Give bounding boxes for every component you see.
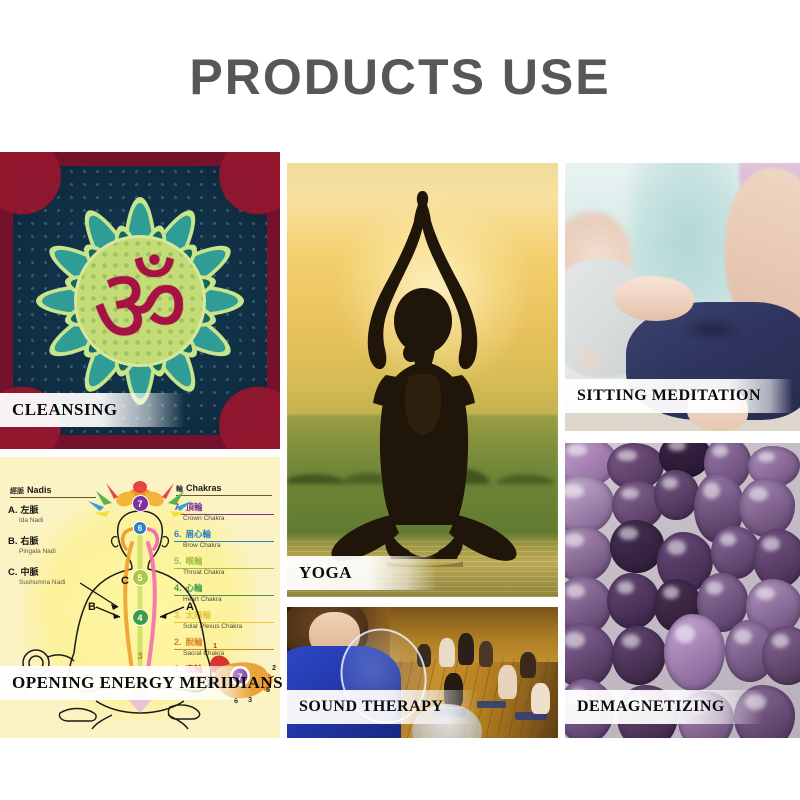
marker-letter-c: C [121,575,129,587]
participant [439,638,455,667]
amethyst-stone [610,520,664,573]
chakra-node-4: 4 [132,609,149,626]
tile-opening-energy-meridians[interactable]: 經脈Nadis A.左脈 Ida Nadi B.右脈 Pingala Nadi … [0,457,280,738]
participant [458,633,474,664]
marker-letter-a: A [186,601,194,613]
chakra-node-5: 5 [132,569,149,586]
amethyst-stone [654,470,699,520]
tile-yoga[interactable]: YOGA [287,163,558,597]
participant [498,665,517,699]
tile-sound-therapy[interactable]: SOUND THERAPY [287,607,558,738]
tile-caption-cleansing: CLEANSING [0,393,185,427]
tile-demagnetizing[interactable]: DEMAGNETIZING [565,443,800,738]
om-symbol-icon: ॐ [93,254,188,358]
tile-cleansing[interactable]: ॐ CLEANSING [0,152,280,449]
marker-letter-b: B [88,601,96,613]
hand-number-1: 1 [213,643,217,650]
tile-caption-yoga: YOGA [287,556,437,590]
amethyst-stone [762,626,800,685]
participant [479,641,493,667]
hand-number-2: 2 [272,665,276,672]
participant [520,652,536,678]
legging-fold-shadow [678,316,744,343]
tile-caption-sitting-meditation: SITTING MEDITATION [565,379,793,413]
tile-caption-demagnetizing: DEMAGNETIZING [565,690,763,724]
yoga-silhouette-icon [287,163,558,597]
background-foot [574,345,605,372]
yoga-mat [477,701,507,708]
amethyst-stone [664,614,725,691]
chakra-node-7: 7 [132,495,149,512]
tile-sitting-meditation[interactable]: SITTING MEDITATION [565,163,800,431]
chakra-node-6: 6 [133,521,147,535]
tile-caption-opening-energy-meridians: OPENING ENERGY MERIDIANS [0,666,252,700]
product-use-collage: ॐ CLEANSING [0,0,800,800]
participant [531,683,550,714]
chakra-node-3: 3 [132,647,149,664]
mudra-hand [614,276,694,322]
tile-caption-sound-therapy: SOUND THERAPY [287,690,477,724]
